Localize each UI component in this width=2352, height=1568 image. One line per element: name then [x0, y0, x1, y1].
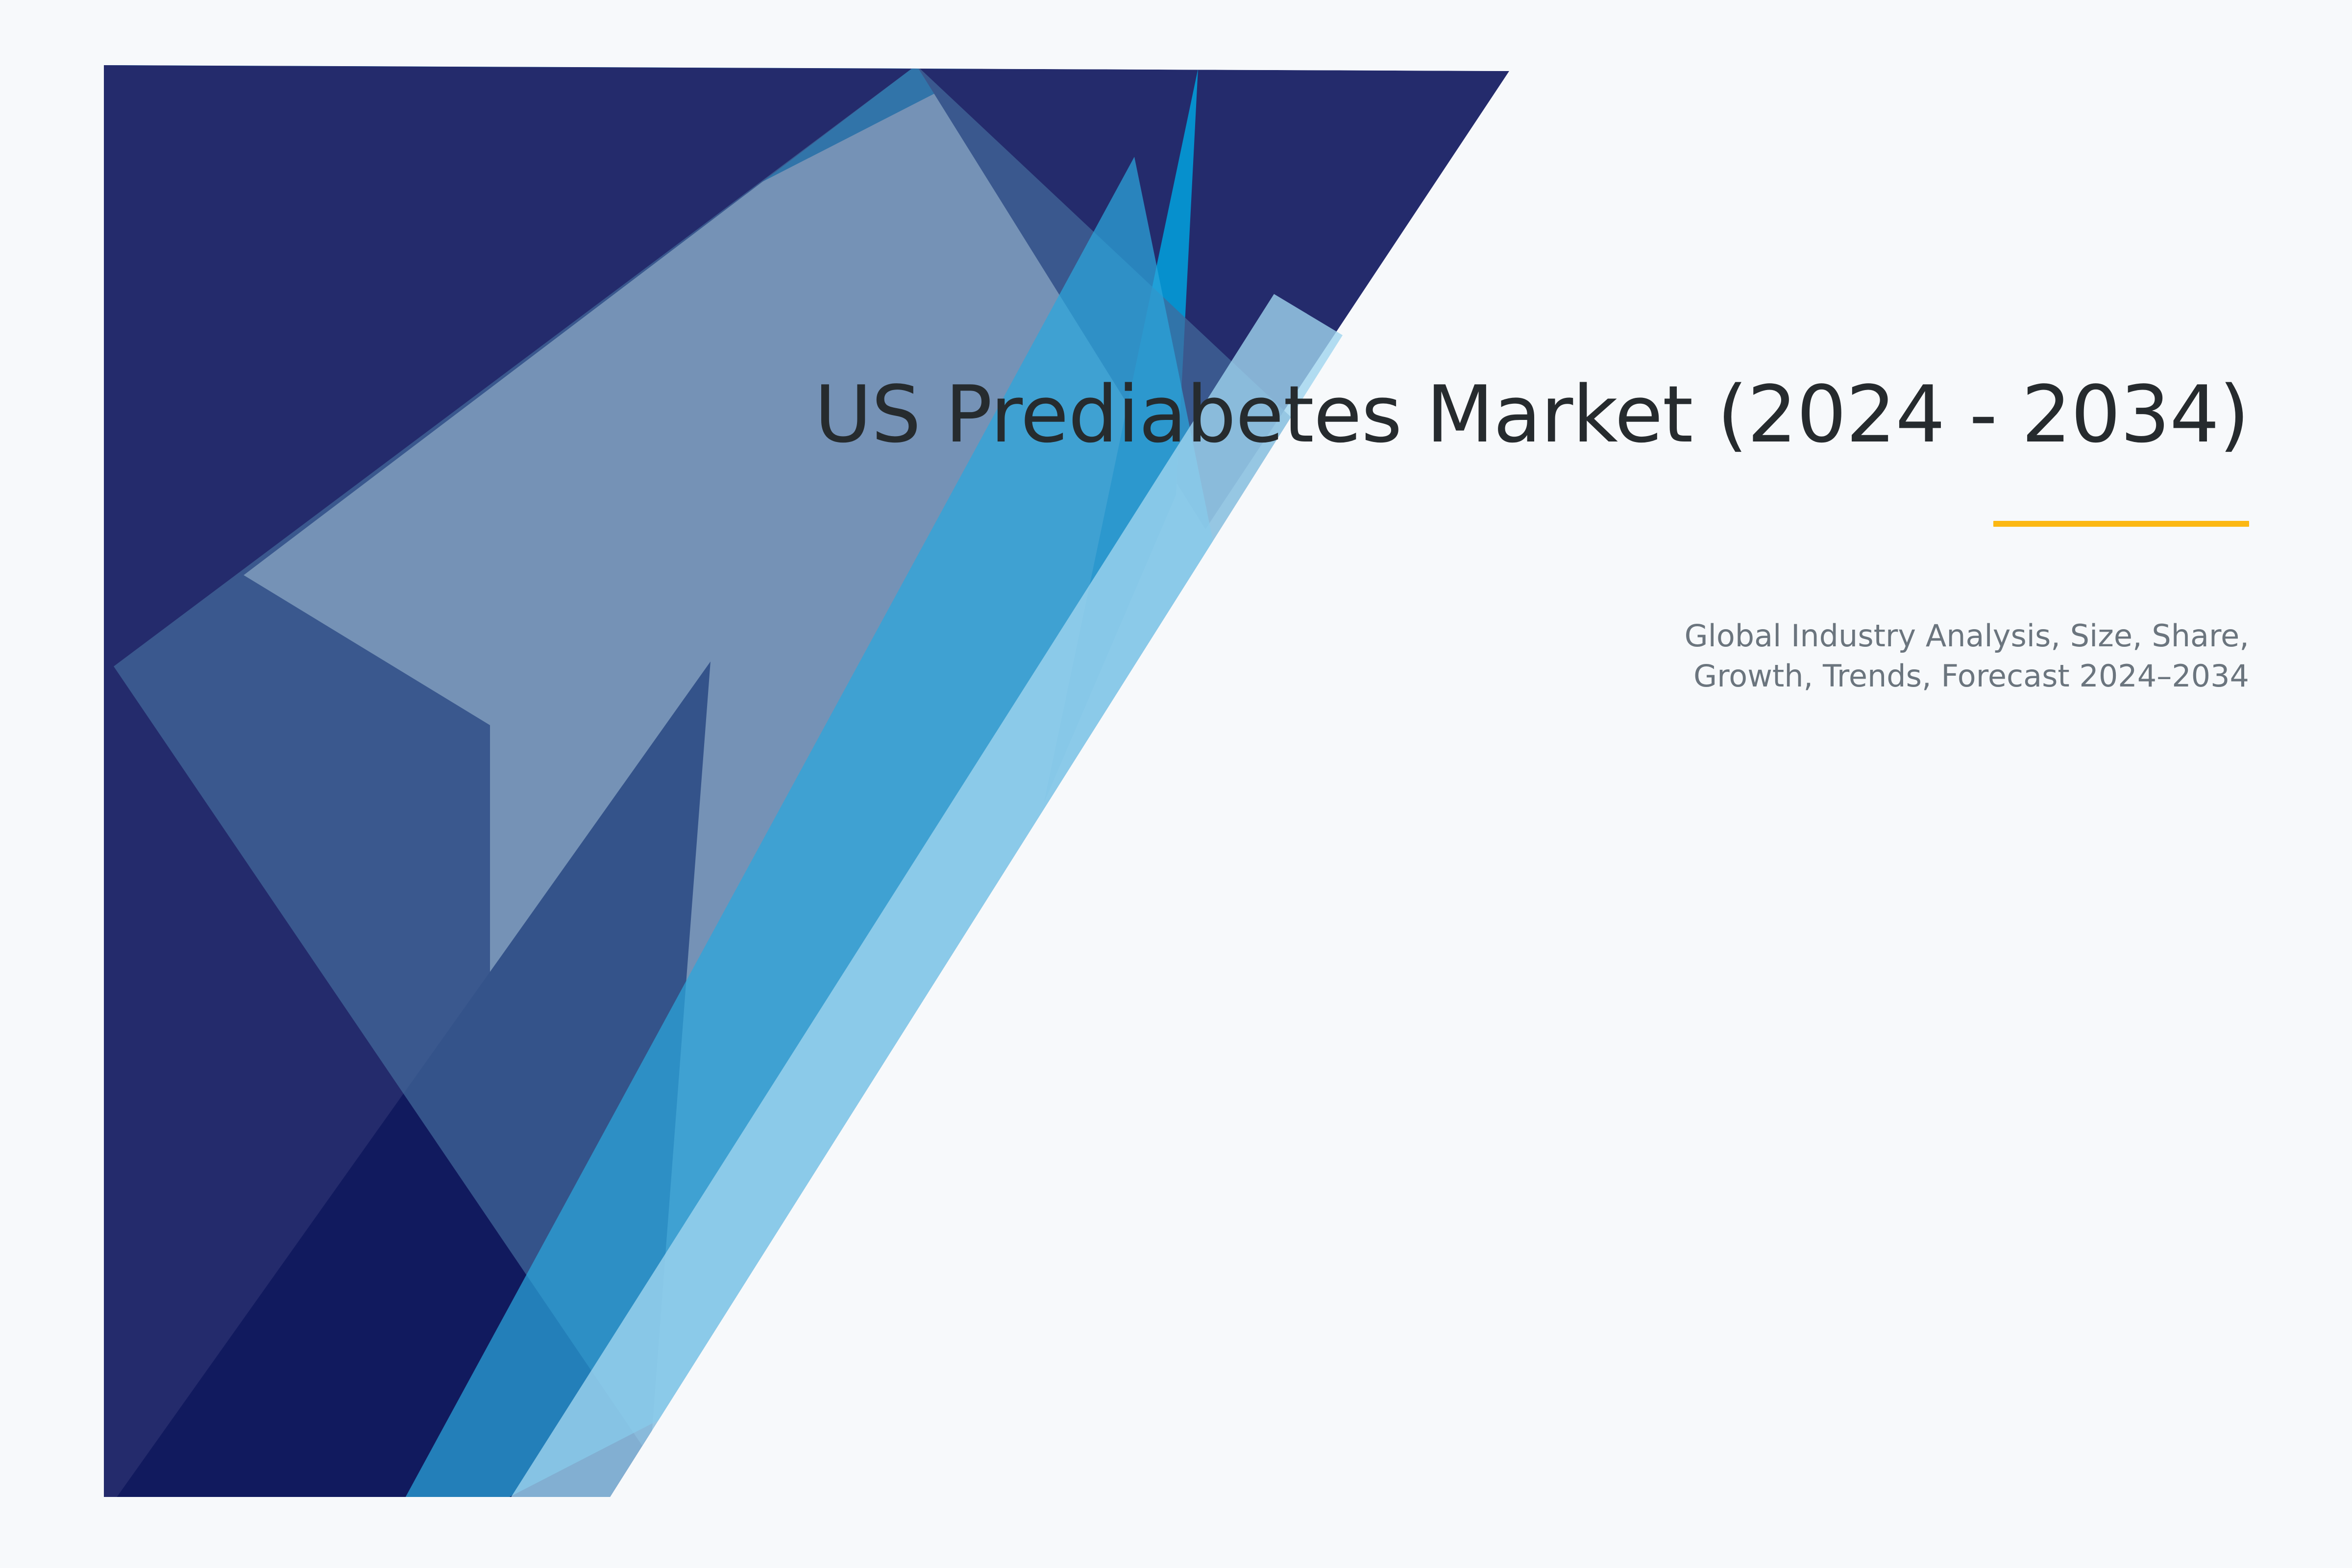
cover-text-block: US Prediabetes Market (2024 - 2034) Glob… — [779, 372, 2249, 696]
shape-deep-navy-spike — [115, 661, 710, 1499]
page-subtitle-line-2: Growth, Trends, Forecast 2024–2034 — [779, 656, 2249, 696]
page-subtitle-line-1: Global Industry Analysis, Size, Share, — [779, 616, 2249, 656]
cover-page: US Prediabetes Market (2024 - 2034) Glob… — [0, 0, 2352, 1568]
shape-sky-blue-beam — [404, 157, 1323, 1499]
shape-navy-left-column — [104, 490, 490, 1499]
shape-slate-blue-panel — [114, 65, 1423, 1499]
accent-rule-container — [779, 521, 2249, 527]
accent-rule — [1993, 521, 2249, 527]
abstract-geometric-artwork — [0, 0, 2352, 1568]
page-subtitle: Global Industry Analysis, Size, Share, G… — [779, 616, 2249, 696]
page-title: US Prediabetes Market (2024 - 2034) — [779, 372, 2249, 457]
